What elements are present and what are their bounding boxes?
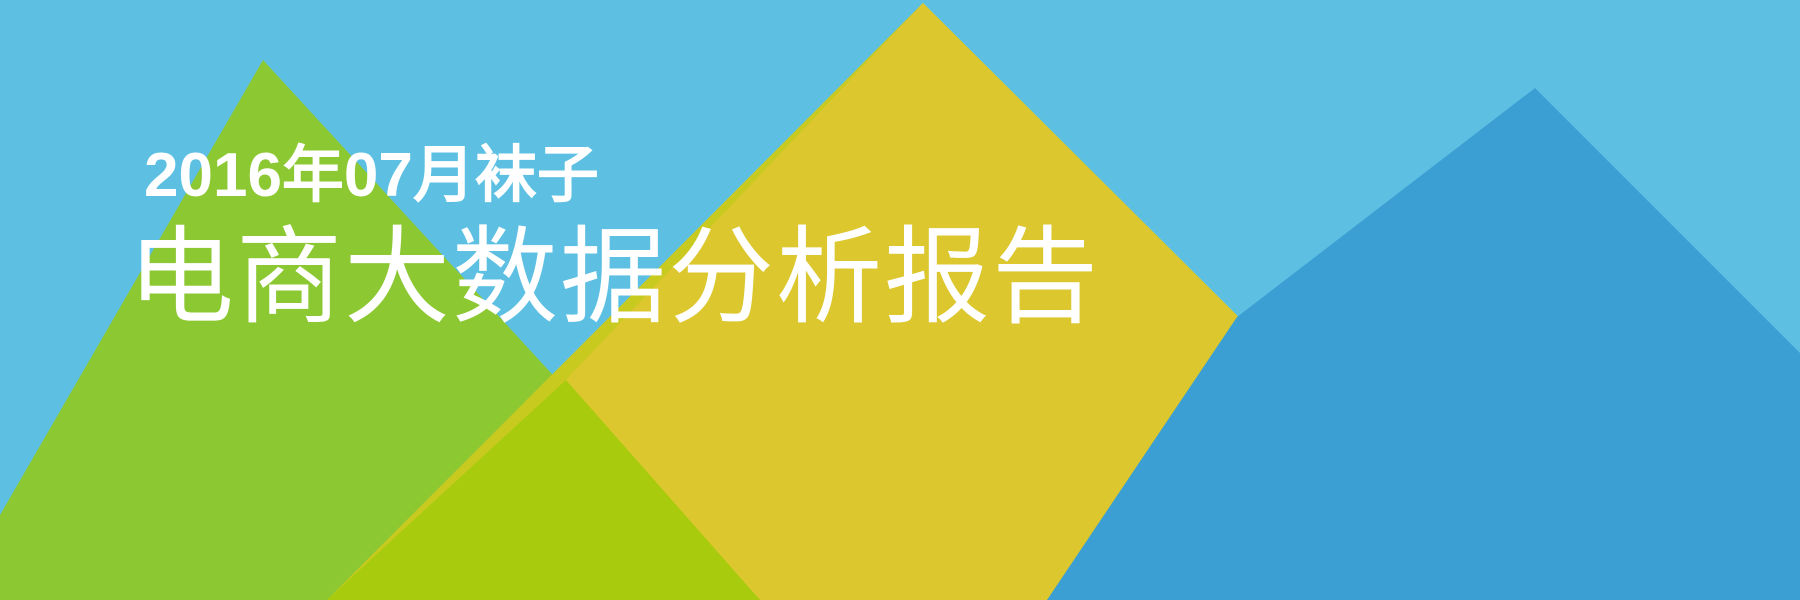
decorative-background [0, 0, 1800, 600]
report-cover-banner: 2016年07月袜子 电商大数据分析报告 [0, 0, 1800, 600]
